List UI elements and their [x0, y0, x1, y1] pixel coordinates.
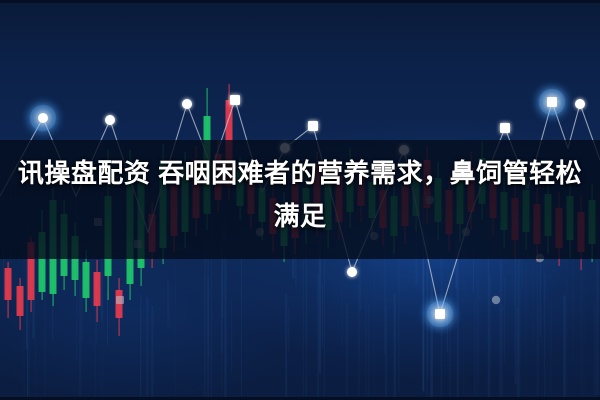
- banner-headline: 讯操盘配资 吞咽困难者的营养需求，鼻饲管轻松 满足: [0, 152, 600, 238]
- banner-root: 讯操盘配资 吞咽困难者的营养需求，鼻饲管轻松 满足: [0, 0, 600, 400]
- top-edge-line: [0, 0, 600, 3]
